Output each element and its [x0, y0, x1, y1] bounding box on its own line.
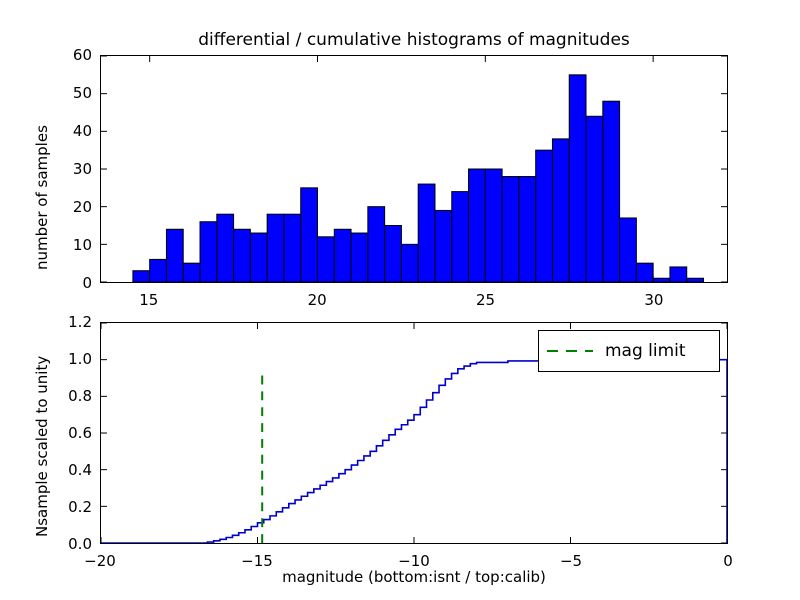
histogram-bar	[485, 169, 502, 282]
mag-limit-dashed-line-icon	[547, 350, 593, 352]
histogram-bar	[469, 169, 486, 282]
histogram-bar	[301, 188, 318, 282]
top-y-axis-label: number of samples	[33, 125, 51, 270]
histogram-bar	[569, 75, 586, 282]
legend[interactable]: mag limit	[538, 330, 720, 372]
histogram-bar	[368, 207, 385, 282]
histogram-bar	[284, 214, 301, 282]
histogram-bar	[267, 214, 284, 282]
histogram-bar	[670, 267, 687, 282]
histogram-bar	[536, 150, 553, 282]
bottom-ytick-6: 1.2	[42, 313, 92, 331]
bottom-xtick-1: −15	[241, 552, 273, 570]
histogram-bar	[217, 214, 234, 282]
histogram-bar	[334, 229, 351, 282]
top-xtick-3: 30	[644, 291, 663, 309]
cumulative-step-curve	[101, 360, 727, 543]
histogram-bar	[653, 278, 670, 282]
top-xtick-2: 25	[476, 291, 495, 309]
histogram-bar	[234, 229, 251, 282]
histogram-bar	[183, 263, 200, 282]
figure-title: differential / cumulative histograms of …	[100, 30, 728, 50]
histogram-bar	[519, 177, 536, 282]
histogram-bar	[452, 192, 469, 282]
histogram-bar	[603, 101, 620, 282]
bottom-xtick-4: 0	[723, 552, 733, 570]
histogram-bar	[636, 263, 653, 282]
bottom-ytick-0: 0.0	[42, 535, 92, 553]
top-ytick-5: 50	[42, 84, 92, 102]
legend-label-mag-limit: mag limit	[605, 341, 686, 361]
top-ytick-0: 0	[42, 274, 92, 292]
top-xtick-1: 20	[308, 291, 327, 309]
histogram-bar	[317, 237, 334, 282]
histogram-bar	[250, 233, 267, 282]
bottom-xtick-3: −5	[560, 552, 582, 570]
histogram-bar	[150, 259, 167, 282]
bottom-y-axis-label: Nsample scaled to unity	[33, 356, 51, 537]
histogram-bar	[418, 184, 435, 282]
top-ytick-6: 60	[42, 46, 92, 64]
histogram-bar	[687, 278, 704, 282]
figure-canvas: differential / cumulative histograms of …	[0, 0, 800, 600]
histogram-bar	[133, 271, 150, 282]
histogram-bar	[200, 222, 217, 282]
top-xtick-0: 15	[139, 291, 158, 309]
bottom-xtick-0: −20	[84, 552, 116, 570]
histogram-bar	[351, 233, 368, 282]
top-histogram-plot	[101, 56, 727, 282]
histogram-bar	[502, 177, 519, 282]
histogram-bar	[586, 116, 603, 282]
histogram-bar	[401, 244, 418, 282]
histogram-bar	[620, 218, 637, 282]
bottom-x-axis-label: magnitude (bottom:isnt / top:calib)	[282, 568, 546, 586]
histogram-bar	[552, 139, 569, 282]
histogram-bar	[435, 210, 452, 282]
histogram-bar	[166, 229, 183, 282]
histogram-bar	[385, 226, 402, 283]
top-histogram-axes	[100, 55, 728, 283]
